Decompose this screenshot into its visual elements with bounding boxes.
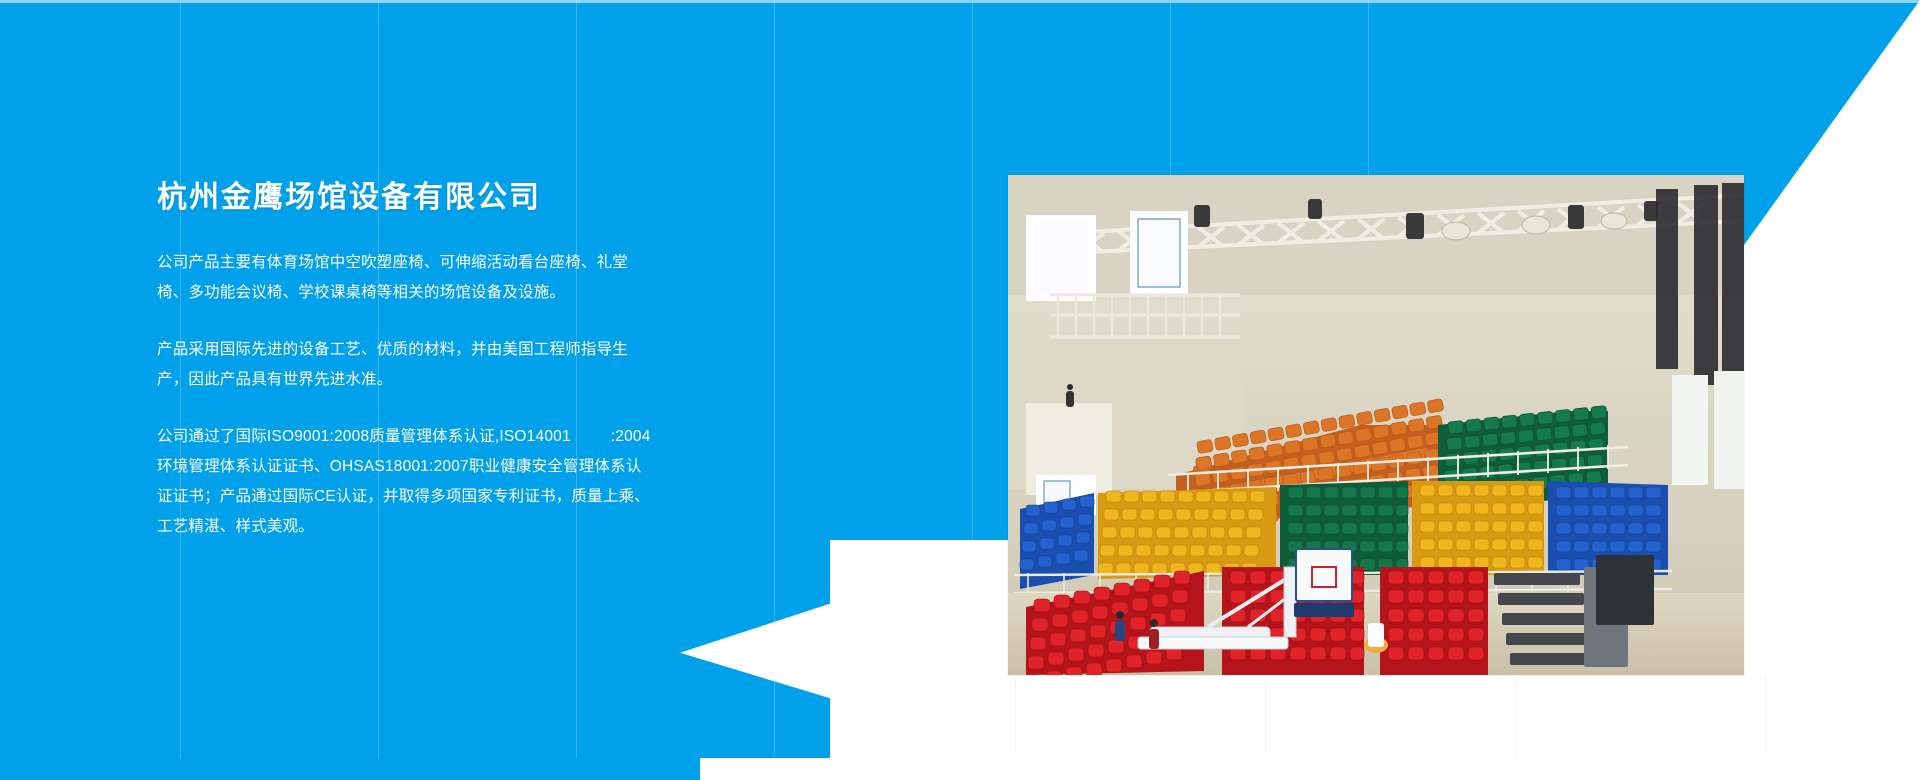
intro-paragraph-products: 公司产品主要有体育场馆中空吹塑座椅、可伸缩活动看台座椅、礼堂椅、多功能会议椅、学… [157,248,657,308]
hero-banner: 杭州金鹰场馆设备有限公司 公司产品主要有体育场馆中空吹塑座椅、可伸缩活动看台座椅… [0,0,1920,780]
hero-text-column: 杭州金鹰场馆设备有限公司 公司产品主要有体育场馆中空吹塑座椅、可伸缩活动看台座椅… [157,178,667,542]
page-title: 杭州金鹰场馆设备有限公司 [157,178,667,218]
intro-paragraph-certifications: 公司通过了国际ISO9001:2008质量管理体系认证,ISO14001:200… [157,422,657,542]
top-edge-sliver [0,0,1920,3]
intro-paragraph-quality: 产品采用国际先进的设备工艺、优质的材料，并由美国工程师指导生产，因此产品具有世界… [157,335,657,395]
gymnasium-retractable-seating-photo [1008,175,1744,675]
bottom-blue-band [0,758,700,780]
cert-text-part1: 公司通过了国际ISO9001:2008质量管理体系认证,ISO14001 [157,428,571,445]
